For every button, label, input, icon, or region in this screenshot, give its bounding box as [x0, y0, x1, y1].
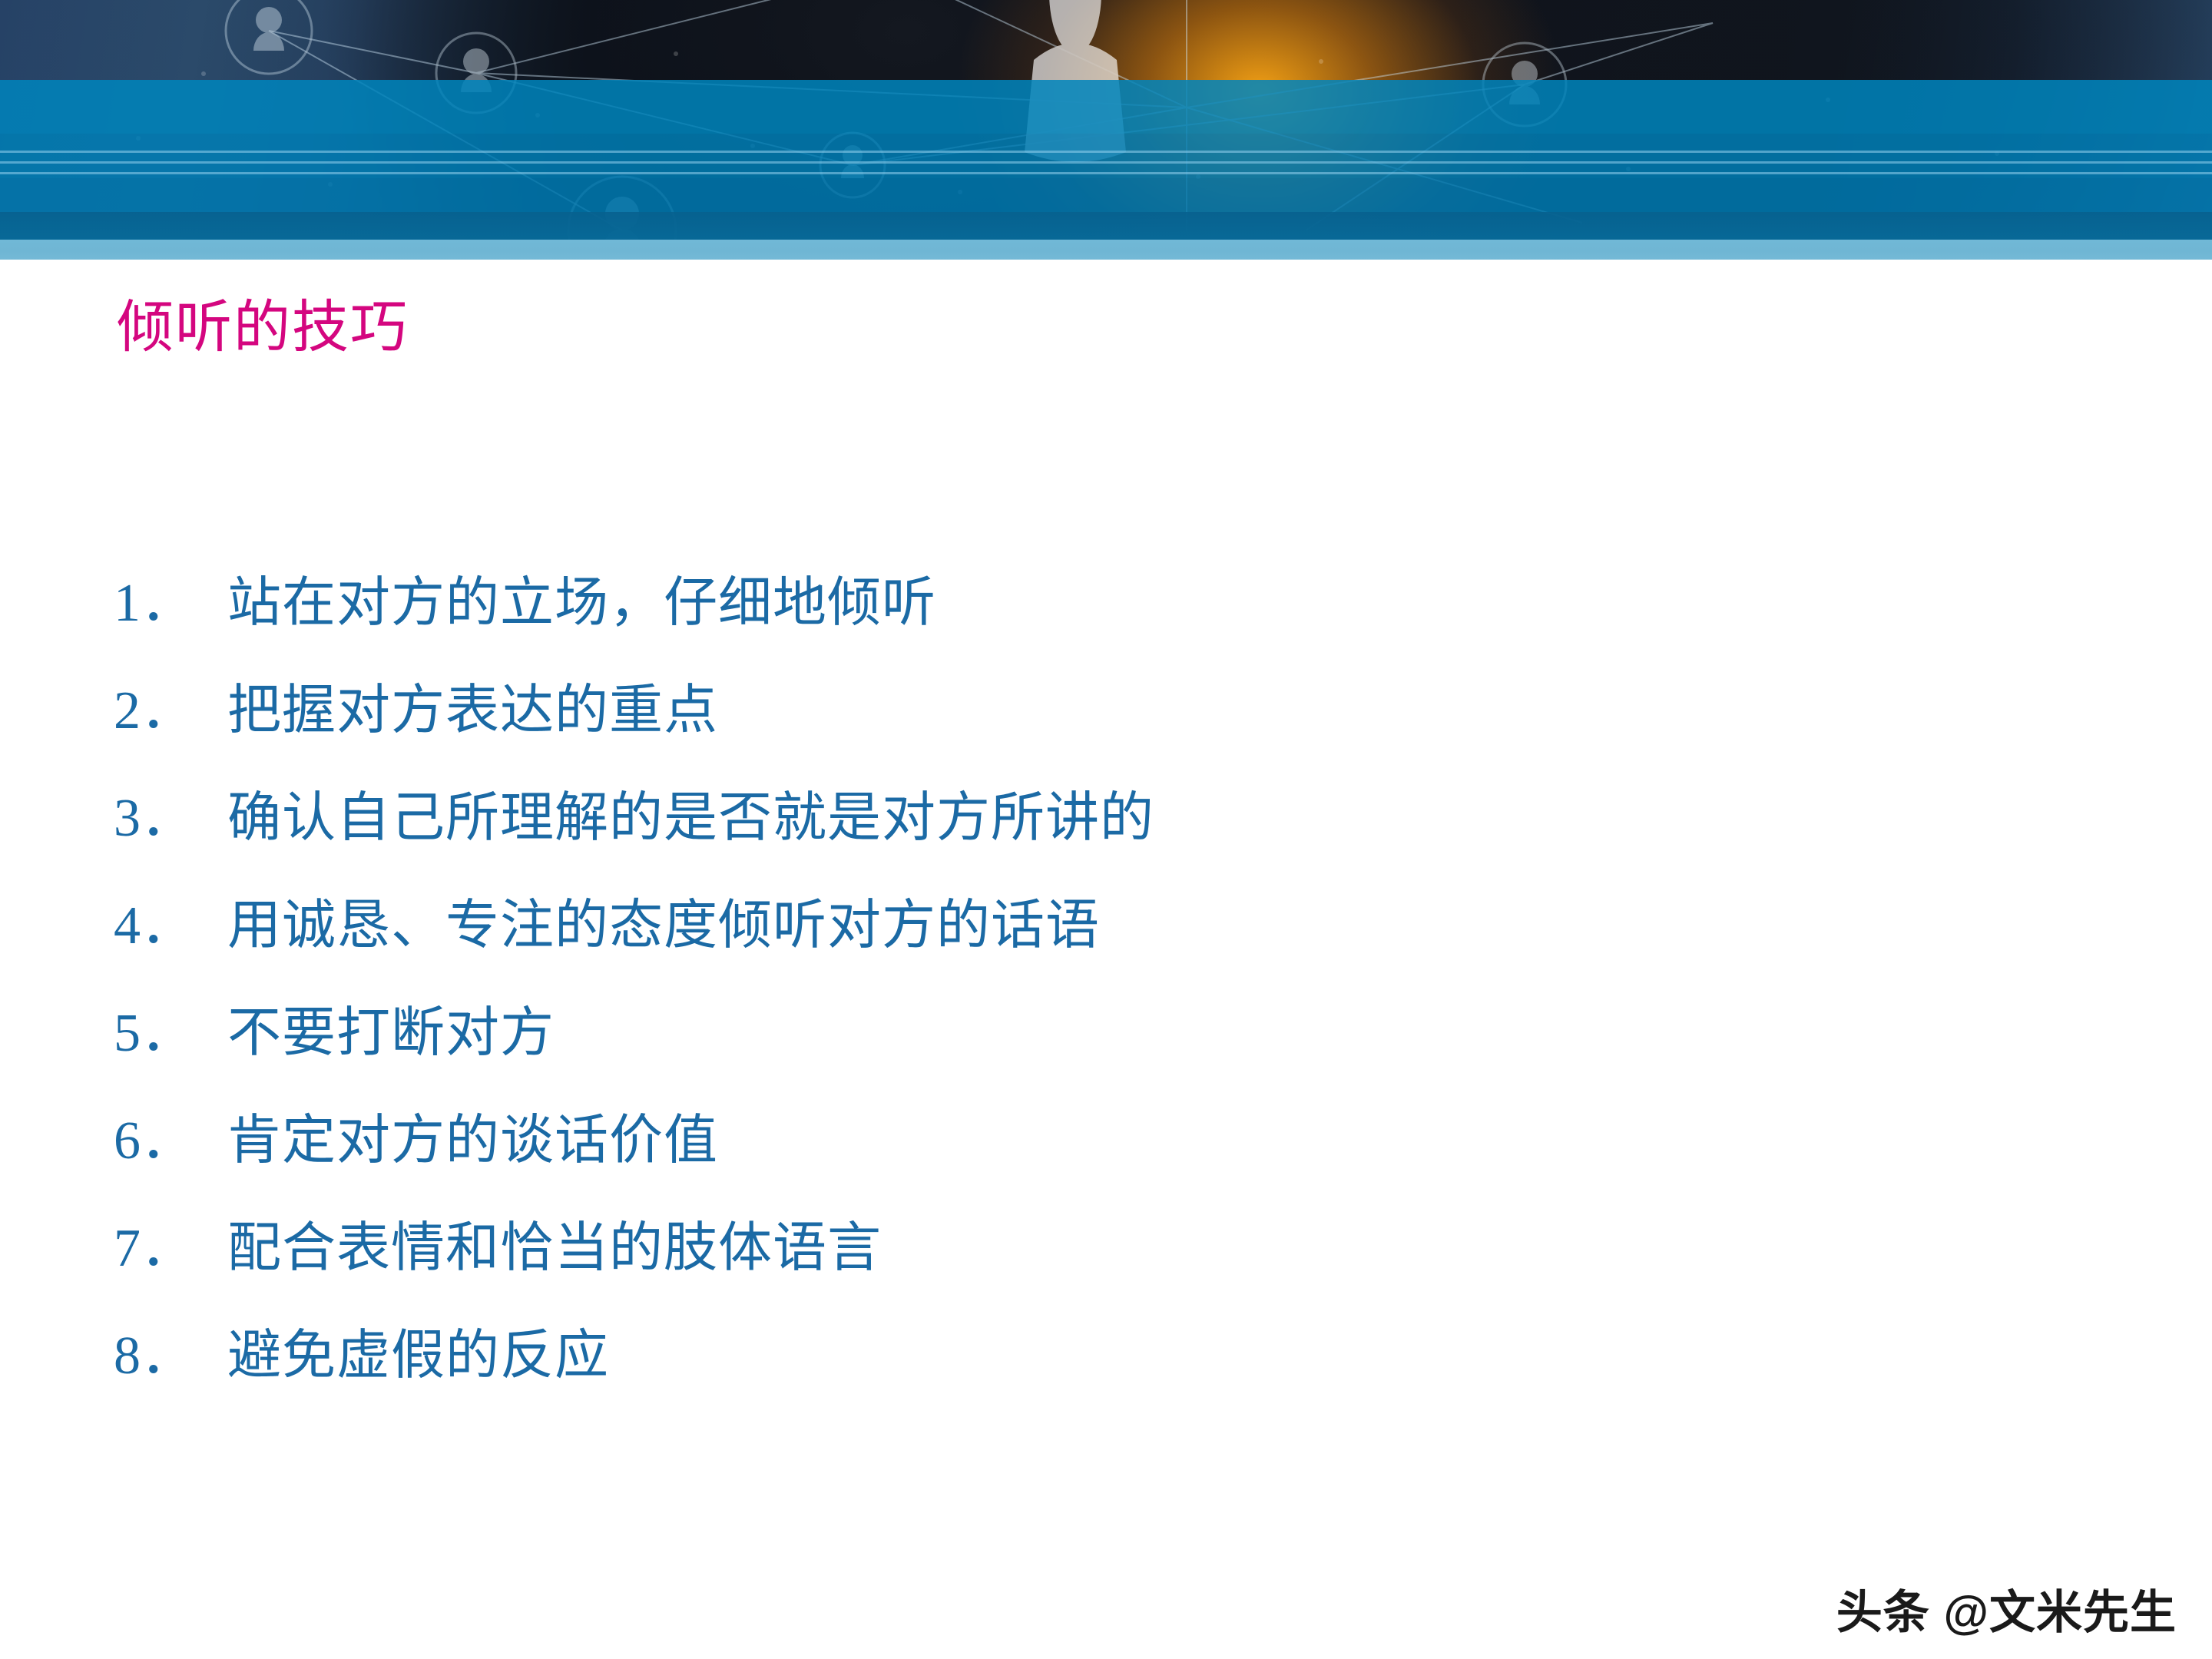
list-item: 5． 不要打断对方: [114, 980, 1957, 1088]
listening-tips-list: 1． 站在对方的立场，仔细地倾听 2． 把握对方表达的重点 3． 确认自己所理解…: [114, 550, 1957, 1410]
banner-hairline-3: [0, 172, 2212, 174]
list-item-label: 用诚恳、专注的态度倾听对方的话语: [227, 873, 1100, 980]
banner-base-block: [0, 212, 2212, 240]
list-item-label: 避免虚假的反应: [227, 1303, 609, 1410]
list-item-number: 5．: [114, 980, 227, 1088]
banner-hairline-1: [0, 151, 2212, 153]
list-item-number: 4．: [114, 873, 227, 980]
list-item-number: 8．: [114, 1303, 227, 1410]
banner-hairline-2: [0, 161, 2212, 164]
banner-blue-band-upper: [0, 80, 2212, 134]
list-item: 6． 肯定对方的谈话价值: [114, 1088, 1957, 1195]
list-item-label: 把握对方表达的重点: [227, 657, 718, 765]
list-item-number: 6．: [114, 1088, 227, 1195]
list-item-number: 1．: [114, 550, 227, 657]
list-item-number: 3．: [114, 765, 227, 873]
list-item-label: 站在对方的立场，仔细地倾听: [227, 550, 936, 657]
list-item: 7． 配合表情和恰当的肢体语言: [114, 1195, 1957, 1303]
list-item: 8． 避免虚假的反应: [114, 1303, 1957, 1410]
list-item-label: 不要打断对方: [227, 980, 555, 1088]
list-item-number: 7．: [114, 1195, 227, 1303]
header-banner: [0, 0, 2212, 240]
list-item-label: 配合表情和恰当的肢体语言: [227, 1195, 882, 1303]
list-item-number: 2．: [114, 657, 227, 765]
list-item-label: 肯定对方的谈话价值: [227, 1088, 718, 1195]
list-item: 3． 确认自己所理解的是否就是对方所讲的: [114, 765, 1957, 873]
list-item: 4． 用诚恳、专注的态度倾听对方的话语: [114, 873, 1957, 980]
watermark-credit: 头条 @文米先生: [1836, 1575, 2177, 1642]
list-item-label: 确认自己所理解的是否就是对方所讲的: [227, 765, 1154, 873]
list-item: 2． 把握对方表达的重点: [114, 657, 1957, 765]
list-item: 1． 站在对方的立场，仔细地倾听: [114, 550, 1957, 657]
header-accent-strip: [0, 240, 2212, 260]
page-title: 倾听的技巧: [117, 300, 409, 356]
